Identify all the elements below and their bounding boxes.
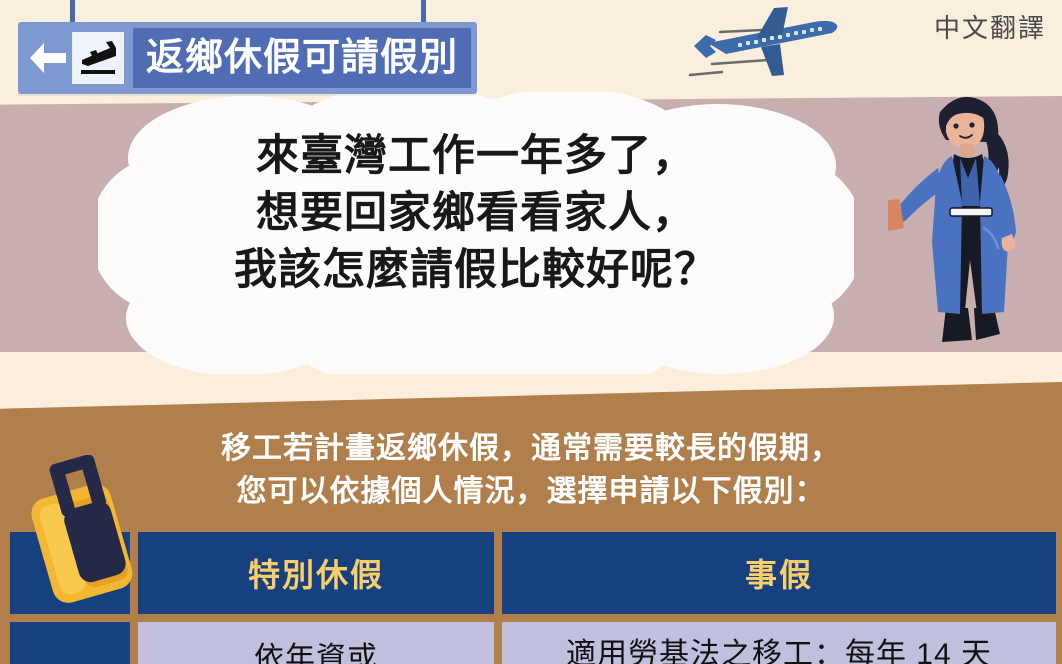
table-header-special-leave: 特別休假 (138, 532, 494, 614)
translation-label: 中文翻譯 (934, 8, 1046, 45)
table-cell-special-leave-detail: 依年資或 (138, 622, 494, 664)
table-header-row: 特別休假 事假 (10, 532, 1056, 614)
infographic-canvas: 來臺灣工作一年多了， 想要回家鄉看看家人， 我該怎麼請假比較好呢？ 返鄉休假可請… (0, 0, 1062, 664)
table-cell-personal-leave-detail: 適用勞基法之移工：每年 14 天 (502, 622, 1056, 664)
intro-line-1: 移工若計畫返鄉休假，通常需要較長的假期， (0, 428, 1062, 471)
intro-text: 移工若計畫返鄉休假，通常需要較長的假期， 您可以依據個人情況，選擇申請以下假別： (0, 428, 1062, 513)
table-cell-spacer-body (10, 622, 130, 664)
sign-title-panel: 返鄉休假可請假別 (133, 28, 471, 88)
table-cell-text: 適用勞基法之移工：每年 14 天 (566, 640, 992, 664)
sign-wire-left (70, 0, 75, 22)
table-header-personal-leave: 事假 (502, 532, 1056, 614)
airplane-icon (664, 2, 864, 102)
page-title: 返鄉休假可請假別 (146, 39, 458, 77)
table-row: 依年資或 適用勞基法之移工：每年 14 天 (10, 622, 1056, 664)
speech-line-3: 我該怎麼請假比較好呢？ (98, 242, 854, 299)
speech-line-2: 想要回家鄉看看家人， (98, 185, 854, 242)
intro-line-2: 您可以依據個人情況，選擇申請以下假別： (0, 471, 1062, 514)
airplane-departure-icon (72, 32, 124, 84)
rolling-suitcase-icon (18, 455, 148, 620)
table-header-label: 事假 (745, 550, 813, 596)
standing-woman-with-phone-illustration (888, 82, 1058, 392)
speech-bubble-text: 來臺灣工作一年多了， 想要回家鄉看看家人， 我該怎麼請假比較好呢？ (98, 128, 854, 298)
leave-types-table: 特別休假 事假 依年資或 適用勞基法之移工：每年 14 天 (10, 532, 1056, 664)
arrow-left-icon (24, 41, 72, 75)
sign-wire-right (421, 0, 426, 22)
table-header-label: 特別休假 (248, 550, 384, 596)
sign-hanging-wires (0, 0, 500, 24)
speech-line-1: 來臺灣工作一年多了， (98, 128, 854, 185)
page-title-sign: 返鄉休假可請假別 (18, 22, 477, 94)
table-cell-text: 依年資或 (254, 644, 378, 664)
